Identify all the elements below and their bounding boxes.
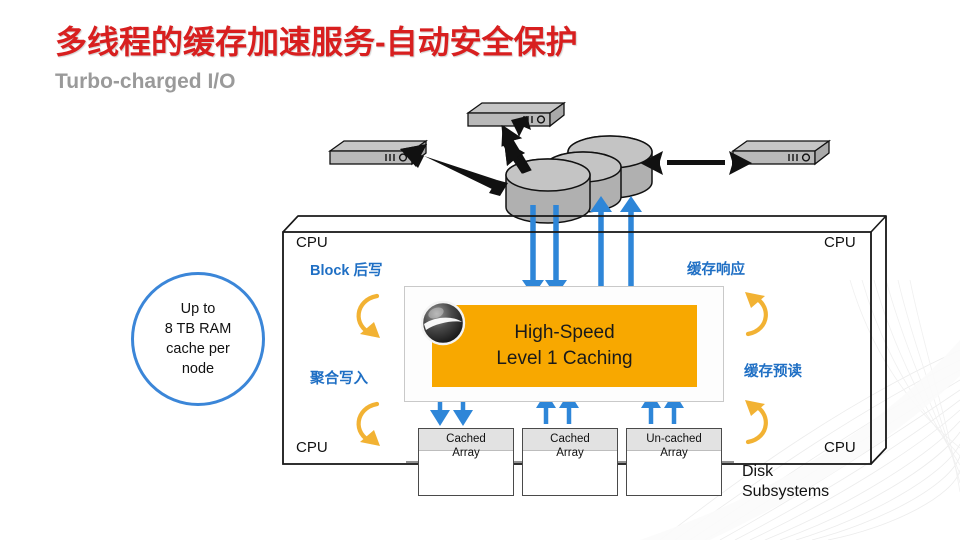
link-arrow-to-top-server	[504, 116, 531, 172]
server-node-left	[330, 141, 426, 164]
label-aggregate-write: 聚合写入	[310, 367, 368, 388]
disk-subsystems-line1: Disk	[742, 462, 829, 482]
label-block-writeback: Block 后写	[310, 259, 383, 280]
array-label-2-line2: Array	[522, 446, 618, 460]
array-label-2: Cached Array	[522, 432, 618, 460]
link-arrow-top	[502, 126, 531, 173]
array-label-3: Un-cached Array	[626, 432, 722, 460]
label-cache-response: 缓存响应	[687, 258, 745, 279]
sphere-logo-icon	[420, 300, 466, 346]
array-label-1-line2: Array	[418, 446, 514, 460]
callout-line-1: Up to	[165, 299, 232, 319]
label-cache-prefetch: 缓存预读	[744, 360, 802, 381]
array-label-2-line1: Cached	[522, 432, 618, 446]
array-label-3-line1: Un-cached	[626, 432, 722, 446]
callout-line-2: 8 TB RAM	[165, 319, 232, 339]
data-flow-arrows-top	[533, 202, 631, 287]
cache-cylinder-back	[568, 136, 652, 198]
cache-line-1: High-Speed	[514, 320, 614, 346]
cpu-label-top-left: CPU	[296, 234, 328, 251]
cache-cylinder-middle	[545, 152, 621, 212]
cache-line-2: Level 1 Caching	[496, 346, 632, 372]
cpu-label-bottom-left: CPU	[296, 439, 328, 456]
array-label-1: Cached Array	[418, 432, 514, 460]
cpu-label-bottom-right: CPU	[824, 439, 856, 456]
callout-line-3: cache per	[165, 339, 232, 359]
cpu-label-top-right: CPU	[824, 234, 856, 251]
cache-panel-text: High-Speed Level 1 Caching	[432, 305, 697, 387]
array-label-1-line1: Cached	[418, 432, 514, 446]
slide-canvas: 多线程的缓存加速服务-自动安全保护 Turbo-charged I/O	[0, 0, 960, 540]
slide-title: 多线程的缓存加速服务-自动安全保护	[55, 17, 578, 63]
ram-capacity-callout: Up to 8 TB RAM cache per node	[131, 272, 265, 406]
disk-subsystems-line2: Subsystems	[742, 482, 829, 502]
link-arrow-to-left-server	[400, 144, 508, 196]
disk-subsystems-label: Disk Subsystems	[742, 462, 829, 502]
server-node-top	[468, 103, 564, 126]
slide-subtitle: Turbo-charged I/O	[55, 70, 235, 94]
array-label-3-line2: Array	[626, 446, 722, 460]
callout-line-4: node	[165, 359, 232, 379]
server-node-right	[733, 141, 829, 164]
cache-cylinder-front	[506, 159, 590, 223]
link-arrow-to-right-server	[640, 151, 752, 175]
data-flow-arrowheads-top	[522, 196, 642, 296]
